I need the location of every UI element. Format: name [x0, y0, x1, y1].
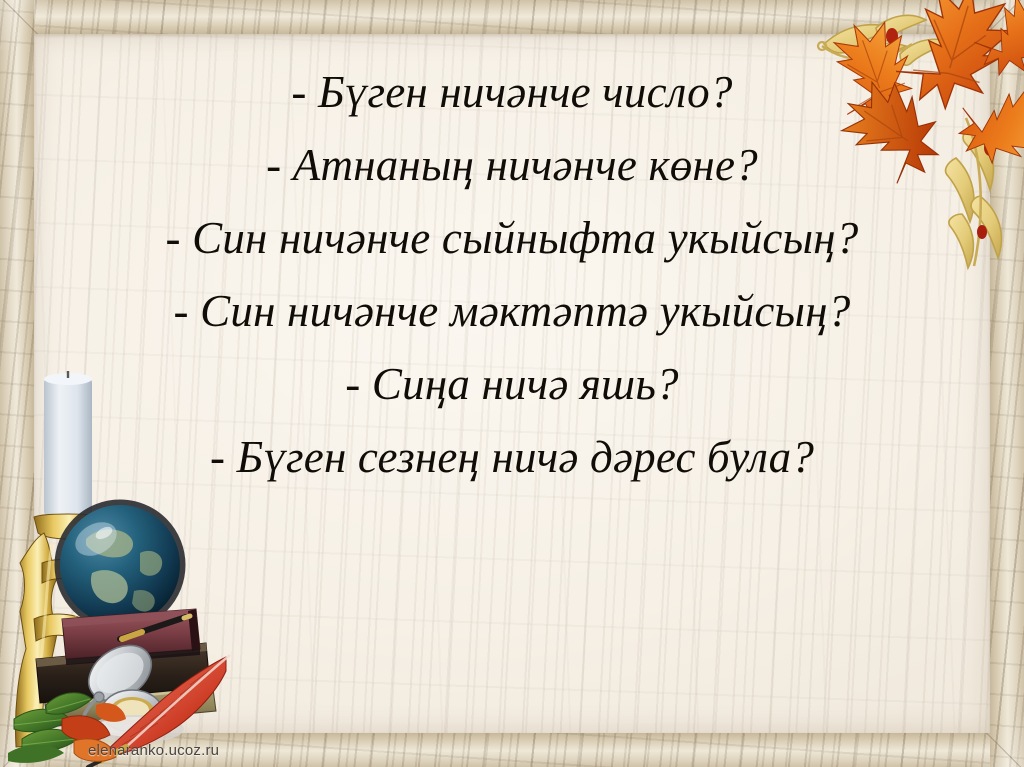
watermark: elenaranko.ucoz.ru [88, 742, 219, 759]
question-line: - Син ничәнче мәктәптә укыйсың? [44, 275, 980, 348]
study-still-life-decoration [0, 367, 250, 767]
presentation-slide: - Бүген ничәнче число? - Атнаның ничәнче… [0, 0, 1024, 767]
autumn-leaf-decoration [814, 0, 1024, 270]
candle [44, 371, 92, 517]
